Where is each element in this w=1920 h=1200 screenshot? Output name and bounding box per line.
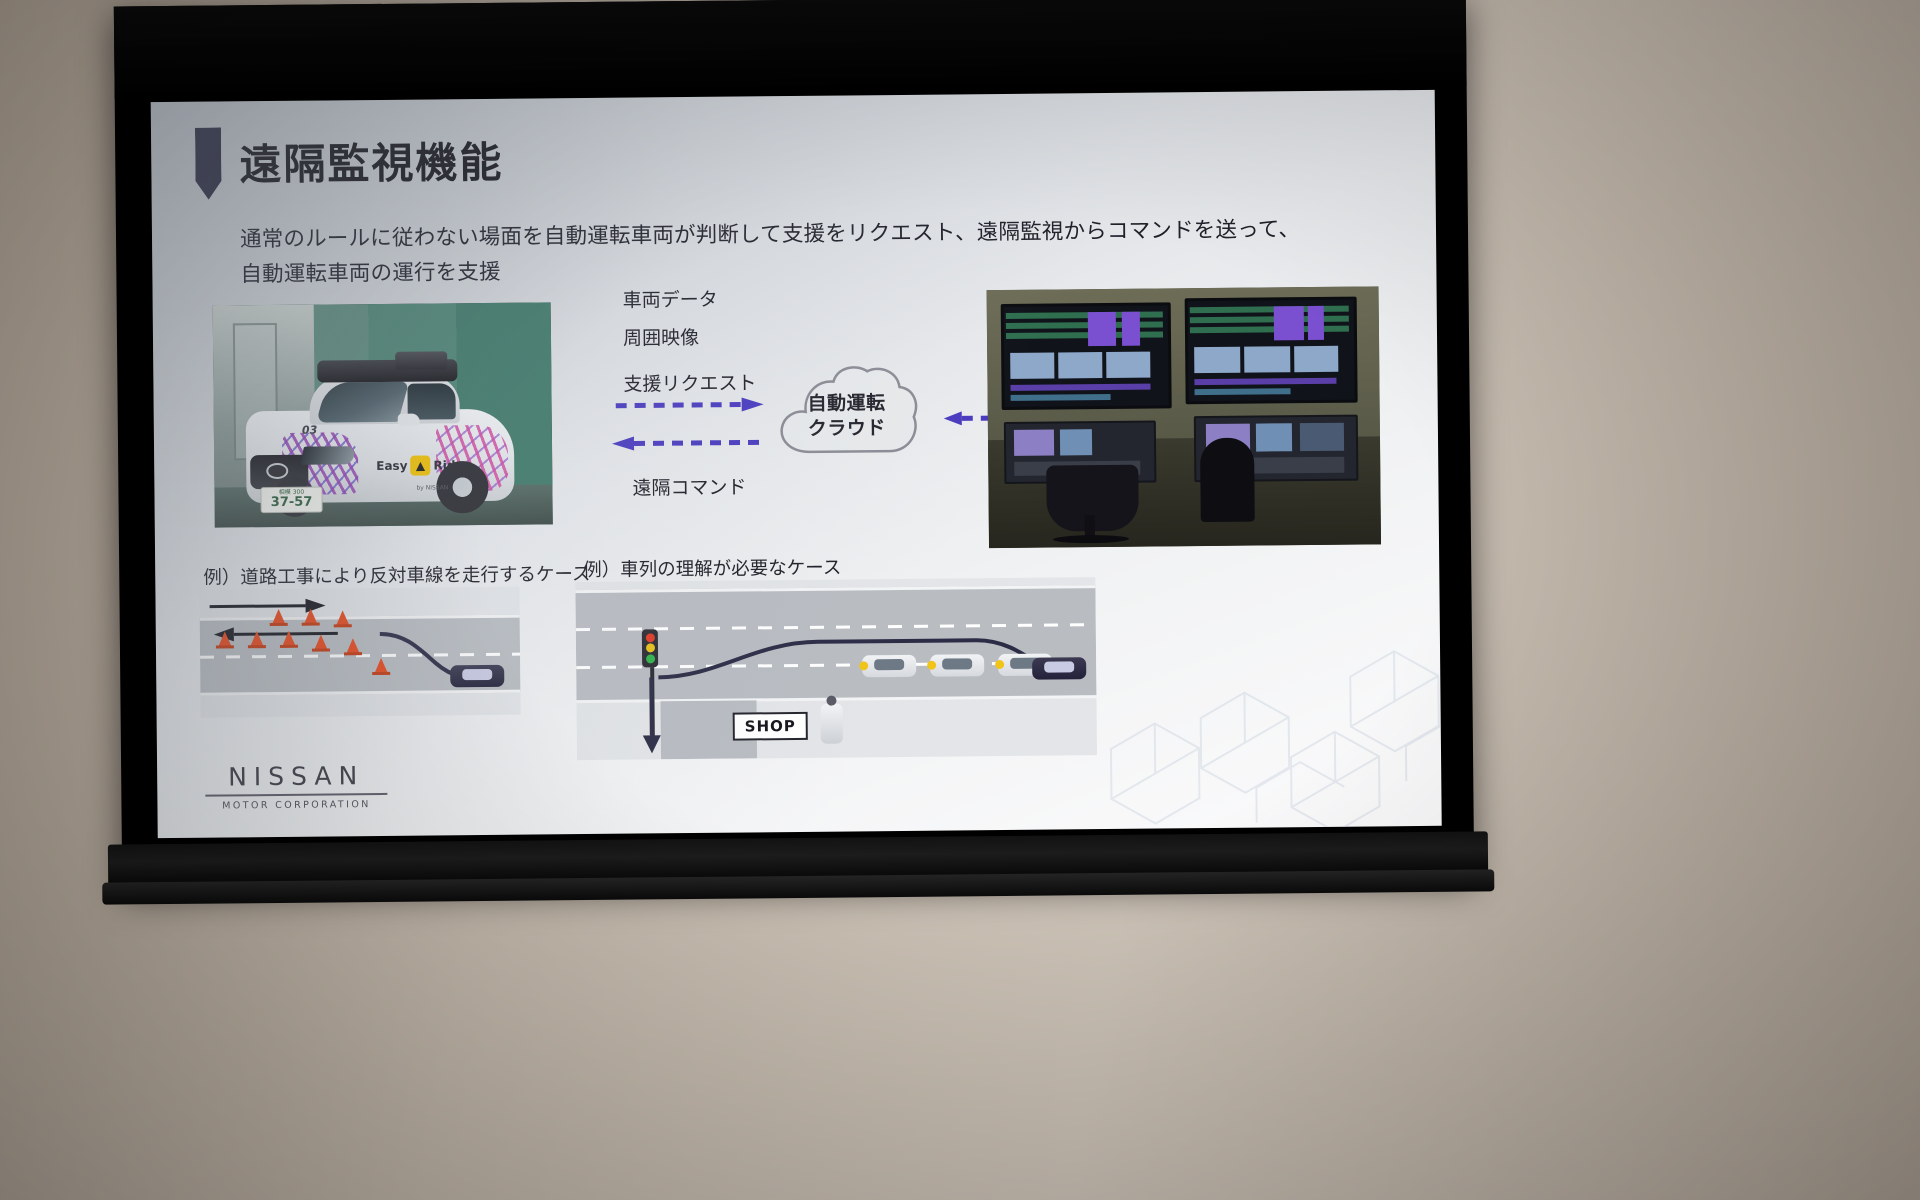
room-vignette xyxy=(0,0,1920,1200)
